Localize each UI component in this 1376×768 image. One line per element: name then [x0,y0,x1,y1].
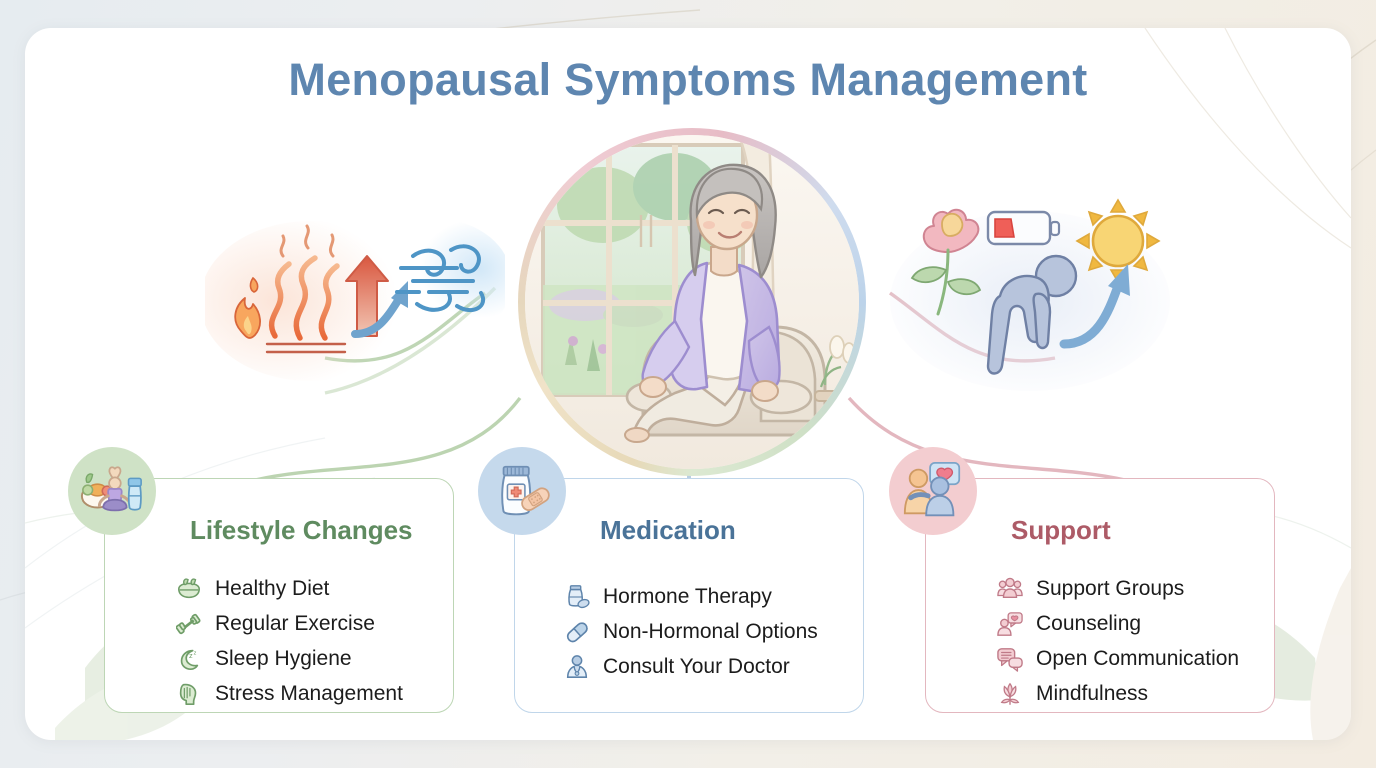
list-item[interactable]: Support Groups [996,571,1272,606]
list-item[interactable]: Consult Your Doctor [563,649,859,684]
list-item[interactable]: Stress Management [175,676,445,711]
medicine-bottle-icon [563,583,591,611]
list-item[interactable]: Non-Hormonal Options [563,614,859,649]
list-item[interactable]: Open Communication [996,641,1272,676]
card-title-lifestyle: Lifestyle Changes [190,515,413,546]
dumbbell-icon [175,610,203,638]
lotus-flower-icon [996,680,1024,708]
illustration-hot-flash-relief [205,186,505,416]
moon-sleep-icon: z z [175,645,203,673]
doctor-icon [563,653,591,681]
svg-text:z: z [189,651,193,660]
list-item-label: Non-Hormonal Options [603,621,818,642]
list-item-label: Sleep Hygiene [215,648,352,669]
salad-bowl-icon [175,575,203,603]
list-item-label: Open Communication [1036,648,1239,669]
people-group-icon [996,575,1024,603]
list-item[interactable]: Healthy Diet [175,571,445,606]
person-speech-heart-icon [996,610,1024,638]
sun-icon [1077,200,1159,282]
page-title: Menopausal Symptoms Management [25,54,1351,106]
capsule-pill-icon [563,618,591,646]
card-title-medication: Medication [600,515,736,546]
list-item-label: Consult Your Doctor [603,656,790,677]
list-item[interactable]: Counseling [996,606,1272,641]
svg-text:z: z [194,650,197,656]
list-item-label: Mindfulness [1036,683,1148,704]
hugging-people-heart-icon [889,447,977,535]
head-mind-icon [175,680,203,708]
list-item-label: Hormone Therapy [603,586,772,607]
card-list-medication: Hormone Therapy Non-Hormonal Options [563,579,859,684]
card-title-support: Support [1011,515,1111,546]
low-battery-icon [988,212,1059,244]
illustration-fatigue-to-energy [880,186,1180,416]
infographic-panel: Menopausal Symptoms Management [25,28,1351,740]
hero-illustration [525,135,859,469]
card-list-support: Support Groups Counseling [996,571,1272,711]
hero-image-circle [518,128,866,476]
list-item[interactable]: z z Sleep Hygiene [175,641,445,676]
list-item[interactable]: Mindfulness [996,676,1272,711]
yoga-salad-water-icon [68,447,156,535]
list-item[interactable]: Hormone Therapy [563,579,859,614]
list-item-label: Support Groups [1036,578,1184,599]
speech-bubbles-icon [996,645,1024,673]
list-item[interactable]: Regular Exercise [175,606,445,641]
card-list-lifestyle: Healthy Diet Regular Exercise [175,571,445,711]
card-lifestyle-changes[interactable]: Lifestyle Changes Healthy Diet [104,478,454,713]
pill-bottle-bandage-icon [478,447,566,535]
list-item-label: Counseling [1036,613,1141,634]
list-item-label: Regular Exercise [215,613,375,634]
card-medication[interactable]: Medication Hormone Therapy [514,478,864,713]
list-item-label: Stress Management [215,683,403,704]
list-item-label: Healthy Diet [215,578,329,599]
card-support[interactable]: Support Support Groups [925,478,1275,713]
